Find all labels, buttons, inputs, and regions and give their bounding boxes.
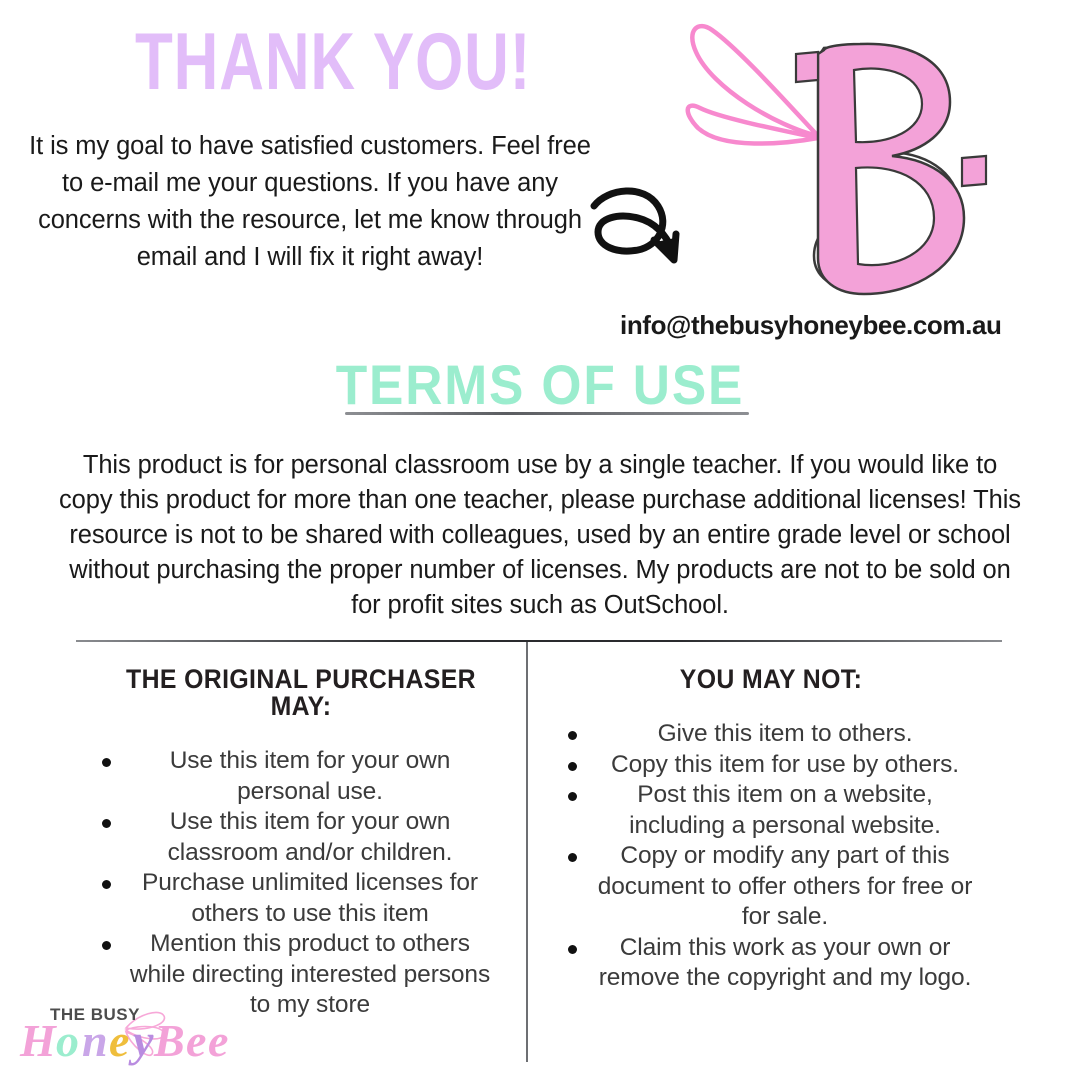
list-you-may-not: Give this item to others. Copy this item… (540, 719, 1002, 994)
column-purchaser-may: THE ORIGINAL PURCHASER MAY: Use this ite… (76, 666, 526, 1021)
list-item: Give this item to others. (540, 719, 1002, 750)
list-purchaser-may: Use this item for your own personal use.… (76, 746, 526, 1021)
terms-of-use-heading: TERMS OF USE (43, 357, 1037, 413)
svg-text:n: n (82, 1015, 108, 1066)
svg-text:H: H (19, 1015, 57, 1066)
list-item: Use this item for your own classroom and… (76, 807, 526, 868)
svg-text:e: e (208, 1015, 228, 1066)
contact-email[interactable]: info@thebusyhoneybee.com.au (620, 310, 1002, 341)
list-item: Use this item for your own personal use. (76, 746, 526, 807)
list-item: Post this item on a website, including a… (540, 780, 1002, 841)
svg-text:B: B (153, 1015, 185, 1066)
terms-heading-underline (345, 412, 749, 415)
intro-paragraph: It is my goal to have satisfied customer… (24, 128, 596, 276)
column-heading-left: THE ORIGINAL PURCHASER MAY: (94, 666, 508, 720)
horizontal-divider (76, 640, 1002, 642)
list-item: Copy this item for use by others. (540, 750, 1002, 781)
bee-monogram-logo (676, 8, 1006, 303)
svg-text:e: e (109, 1015, 129, 1066)
svg-text:o: o (56, 1015, 79, 1066)
column-heading-right: YOU MAY NOT: (558, 666, 983, 693)
terms-of-use-page: THANK YOU! It is my goal to have satisfi… (0, 0, 1080, 1080)
column-you-may-not: YOU MAY NOT: Give this item to others. C… (540, 666, 1002, 994)
page-title: THANK YOU! (135, 22, 531, 103)
list-item: Purchase unlimited licenses for others t… (76, 868, 526, 929)
brand-logo: THE BUSY H o n e y B e e (14, 998, 236, 1072)
list-item: Claim this work as your own or remove th… (540, 933, 1002, 994)
list-item: Copy or modify any part of this document… (540, 841, 1002, 933)
svg-text:e: e (186, 1015, 206, 1066)
terms-paragraph: This product is for personal classroom u… (56, 448, 1024, 623)
vertical-divider (526, 642, 528, 1062)
